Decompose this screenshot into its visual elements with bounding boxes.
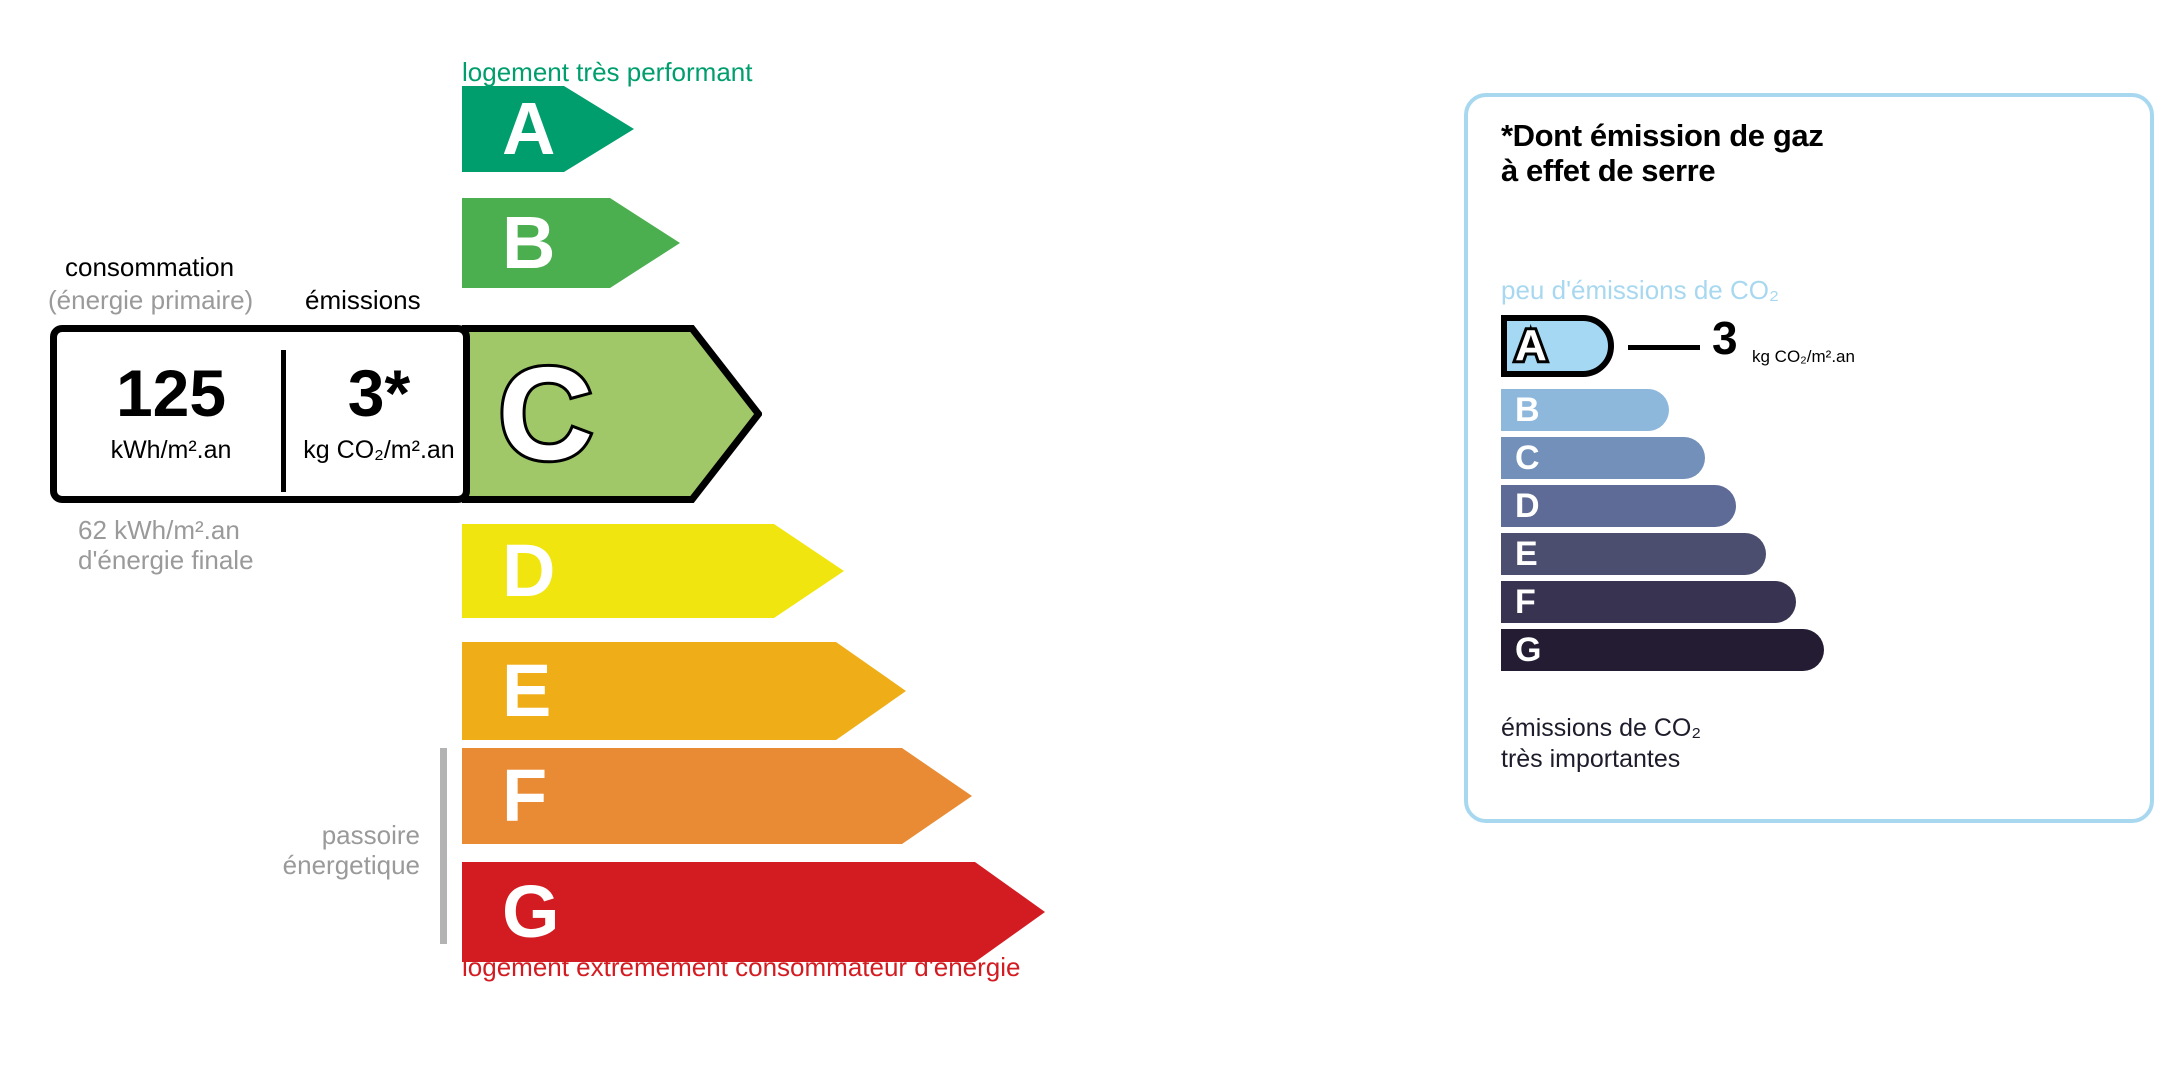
energy-band-letter-e: E (502, 654, 551, 728)
energy-band-letter-g: G (502, 875, 560, 949)
ges-bottom-annotation-line1: émissions de CO₂ (1501, 714, 1701, 743)
label-consommation: consommation (65, 252, 234, 283)
label-emissions: émissions (305, 285, 421, 316)
ges-unit: kg CO₂/m².an (1752, 347, 1855, 367)
energy-band-letter-f: F (502, 759, 547, 833)
ges-bar-d: D (1501, 485, 1736, 527)
energy-bottom-annotation: logement extrêmement consommateur d'éner… (462, 952, 1020, 983)
box-divider (281, 350, 286, 492)
ges-title-line1: *Dont émission de gaz (1501, 118, 1823, 153)
ges-bar-e: E (1501, 533, 1766, 575)
energy-band-g: G (462, 862, 1045, 962)
energy-band-letter-b: B (502, 206, 555, 280)
energy-band-letter-c: C (498, 348, 593, 480)
energy-value-group: 125 kWh/m².an (65, 360, 277, 465)
final-energy-value: 62 kWh/m².an (78, 515, 240, 546)
energy-band-f: F (462, 748, 972, 844)
energy-label-chart: logement très performant ABCDEFG consomm… (0, 0, 1400, 1079)
ges-title-line2: à effet de serre (1501, 153, 1715, 188)
emission-unit: kg CO₂/m².an (289, 436, 469, 465)
passoire-label-line1: passoire (0, 820, 420, 851)
energy-band-a: A (462, 86, 634, 172)
ges-bar-letter-d: D (1515, 489, 1540, 523)
ges-leader-line (1628, 345, 1700, 350)
final-energy-label: d'énergie finale (78, 545, 254, 576)
energy-band-e: E (462, 642, 906, 740)
ges-badge-letter: A (1515, 324, 1547, 368)
ges-bar-letter-f: F (1515, 585, 1536, 619)
energy-band-letter-d: D (502, 534, 555, 608)
ges-bar-letter-c: C (1515, 441, 1540, 475)
energy-unit: kWh/m².an (65, 436, 277, 465)
ges-bar-g: G (1501, 629, 1824, 671)
energy-band-letter-a: A (502, 92, 555, 166)
consumption-value-box: 125 kWh/m².an 3* kg CO₂/m².an (50, 325, 470, 503)
passoire-bracket (440, 748, 447, 944)
ges-bar-f: F (1501, 581, 1796, 623)
energy-band-b: B (462, 198, 680, 288)
ges-bar-c: C (1501, 437, 1705, 479)
ges-bar-letter-e: E (1515, 537, 1538, 571)
energy-band-d: D (462, 524, 844, 618)
ges-bar-letter-g: G (1515, 633, 1541, 667)
label-energie-primaire: (énergie primaire) (48, 285, 253, 316)
ges-top-annotation: peu d'émissions de CO₂ (1501, 275, 1779, 306)
energy-top-annotation: logement très performant (462, 57, 752, 88)
energy-band-c: C (462, 325, 762, 503)
passoire-label-line2: énergetique (0, 850, 420, 881)
band-arrow-shape (462, 198, 680, 288)
ges-selected-badge-a: A (1501, 315, 1614, 377)
ges-bar-letter-b: B (1515, 393, 1540, 427)
emission-value-group: 3* kg CO₂/m².an (289, 360, 469, 465)
ges-value: 3 (1712, 315, 1738, 361)
emission-value: 3* (289, 360, 469, 426)
ges-panel: *Dont émission de gaz à effet de serre p… (1464, 93, 2154, 823)
energy-value: 125 (65, 360, 277, 426)
ges-title: *Dont émission de gaz à effet de serre (1501, 119, 1823, 188)
ges-bar-b: B (1501, 389, 1669, 431)
ges-bottom-annotation-line2: très importantes (1501, 745, 1680, 774)
